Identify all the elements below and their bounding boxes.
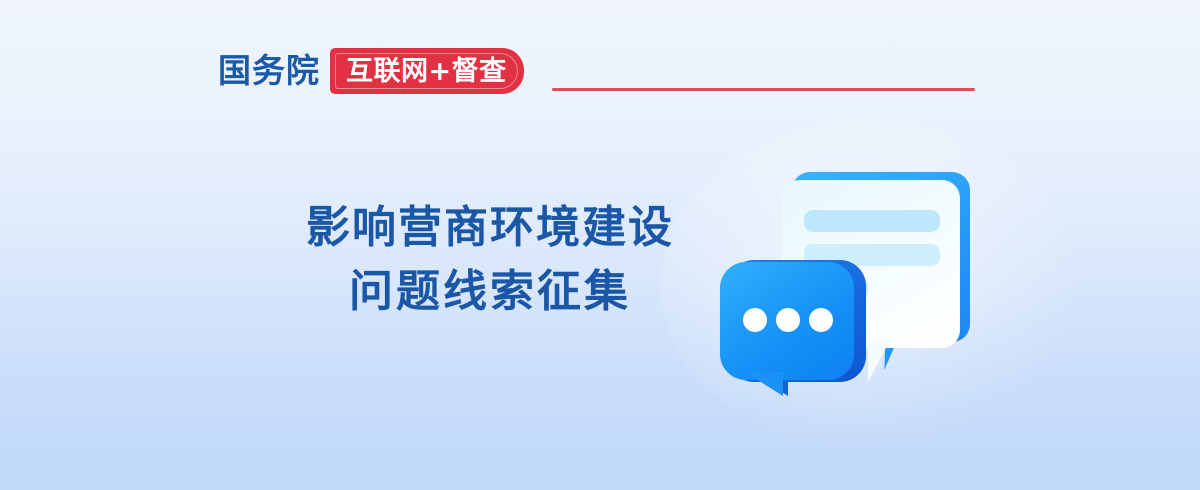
typing-dot-1-icon (743, 308, 767, 332)
banner: 国务院 互联网+督查 影响营商环境建设 问题线索征集 (0, 0, 1200, 490)
page-title-line-2: 问题线索征集 (290, 260, 690, 324)
header-divider-rule (552, 88, 975, 91)
logo-lockup[interactable]: 国务院 互联网+督查 (218, 47, 524, 95)
typing-dot-2-icon (776, 308, 800, 332)
message-card-tail-icon (868, 340, 902, 382)
gov-council-label: 国务院 (218, 54, 320, 89)
message-text-line-1-icon (804, 210, 940, 232)
page-title-line-1: 影响营商环境建设 (290, 196, 690, 260)
page-title: 影响营商环境建设 问题线索征集 (290, 196, 690, 324)
chat-bubbles-illustration (700, 150, 1020, 400)
typing-dot-3-icon (809, 308, 833, 332)
badge-label: 互联网+督查 (346, 58, 507, 85)
internet-plus-supervision-badge[interactable]: 互联网+督查 (330, 48, 524, 94)
chat-bubble-tail-icon (742, 372, 783, 396)
